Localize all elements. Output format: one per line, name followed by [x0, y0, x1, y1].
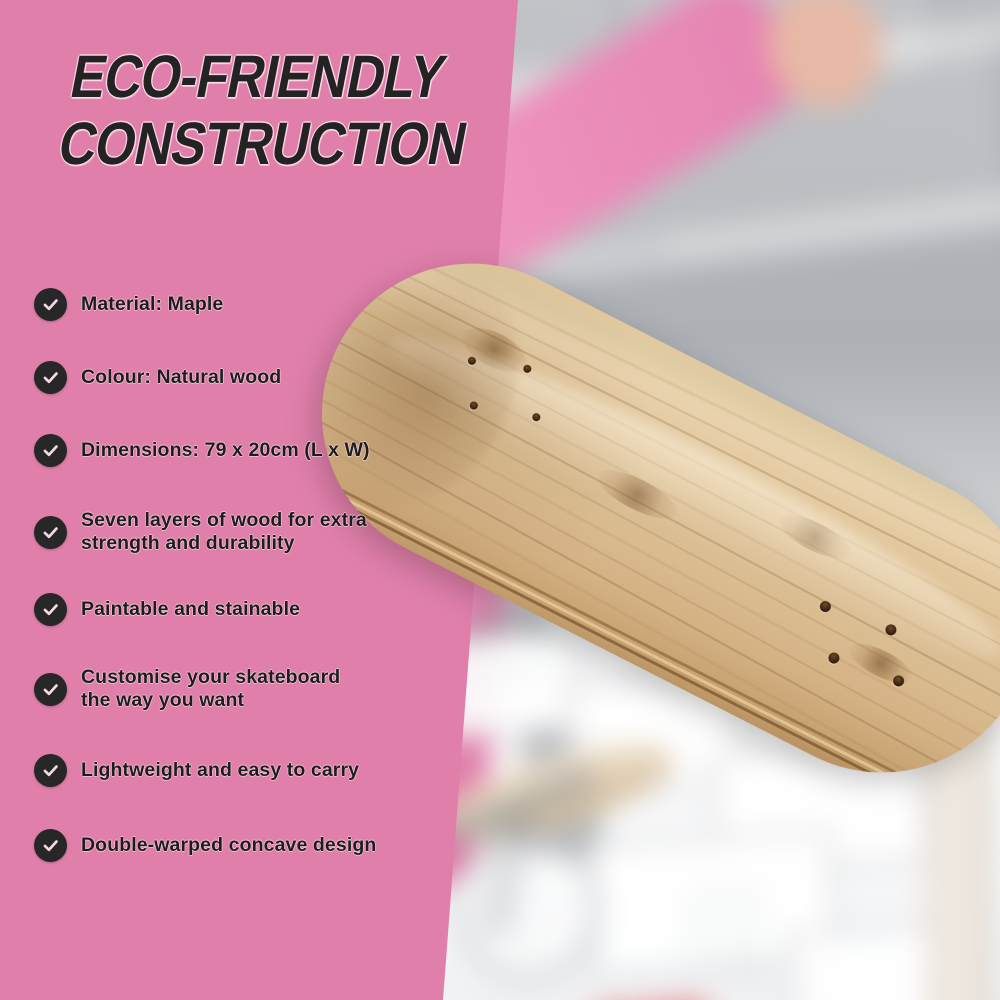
feature-label: Seven layers of wood for extra strength …	[81, 509, 367, 555]
bicycle-wheel	[455, 836, 601, 982]
check-circle-icon	[34, 829, 67, 862]
feature-label: Lightweight and easy to carry	[81, 759, 359, 782]
check-circle-icon	[34, 434, 67, 467]
check-circle-icon	[34, 288, 67, 321]
check-circle-icon	[34, 754, 67, 787]
feature-list: Material: Maple Colour: Natural wood Dim…	[34, 288, 434, 872]
headline: ECO-FRIENDLY CONSTRUCTION	[72, 48, 492, 172]
feature-item-customise: Customise your skateboard the way you wa…	[34, 666, 434, 712]
feature-item-layers: Seven layers of wood for extra strength …	[34, 509, 434, 555]
check-circle-icon	[34, 361, 67, 394]
feature-label: Material: Maple	[81, 293, 223, 316]
feature-item-concave: Double-warped concave design	[34, 829, 434, 862]
check-circle-icon	[34, 593, 67, 626]
feature-item-colour: Colour: Natural wood	[34, 361, 434, 394]
feature-item-paintable: Paintable and stainable	[34, 593, 434, 626]
feature-label: Colour: Natural wood	[81, 366, 281, 389]
feature-label: Customise your skateboard the way you wa…	[81, 666, 340, 712]
feature-item-dimensions: Dimensions: 79 x 20cm (L x W)	[34, 434, 434, 467]
feature-item-lightweight: Lightweight and easy to carry	[34, 754, 434, 787]
feature-label: Paintable and stainable	[81, 598, 300, 621]
promo-image: ECO-FRIENDLY CONSTRUCTION Material: Mapl…	[0, 0, 1000, 1000]
feature-label: Double-warped concave design	[81, 834, 376, 857]
headline-line-2: CONSTRUCTION	[54, 115, 437, 172]
check-circle-icon	[34, 516, 67, 549]
headline-line-1: ECO-FRIENDLY	[66, 48, 438, 105]
check-circle-icon	[34, 673, 67, 706]
feature-label: Dimensions: 79 x 20cm (L x W)	[81, 439, 370, 462]
feature-item-material: Material: Maple	[34, 288, 434, 321]
